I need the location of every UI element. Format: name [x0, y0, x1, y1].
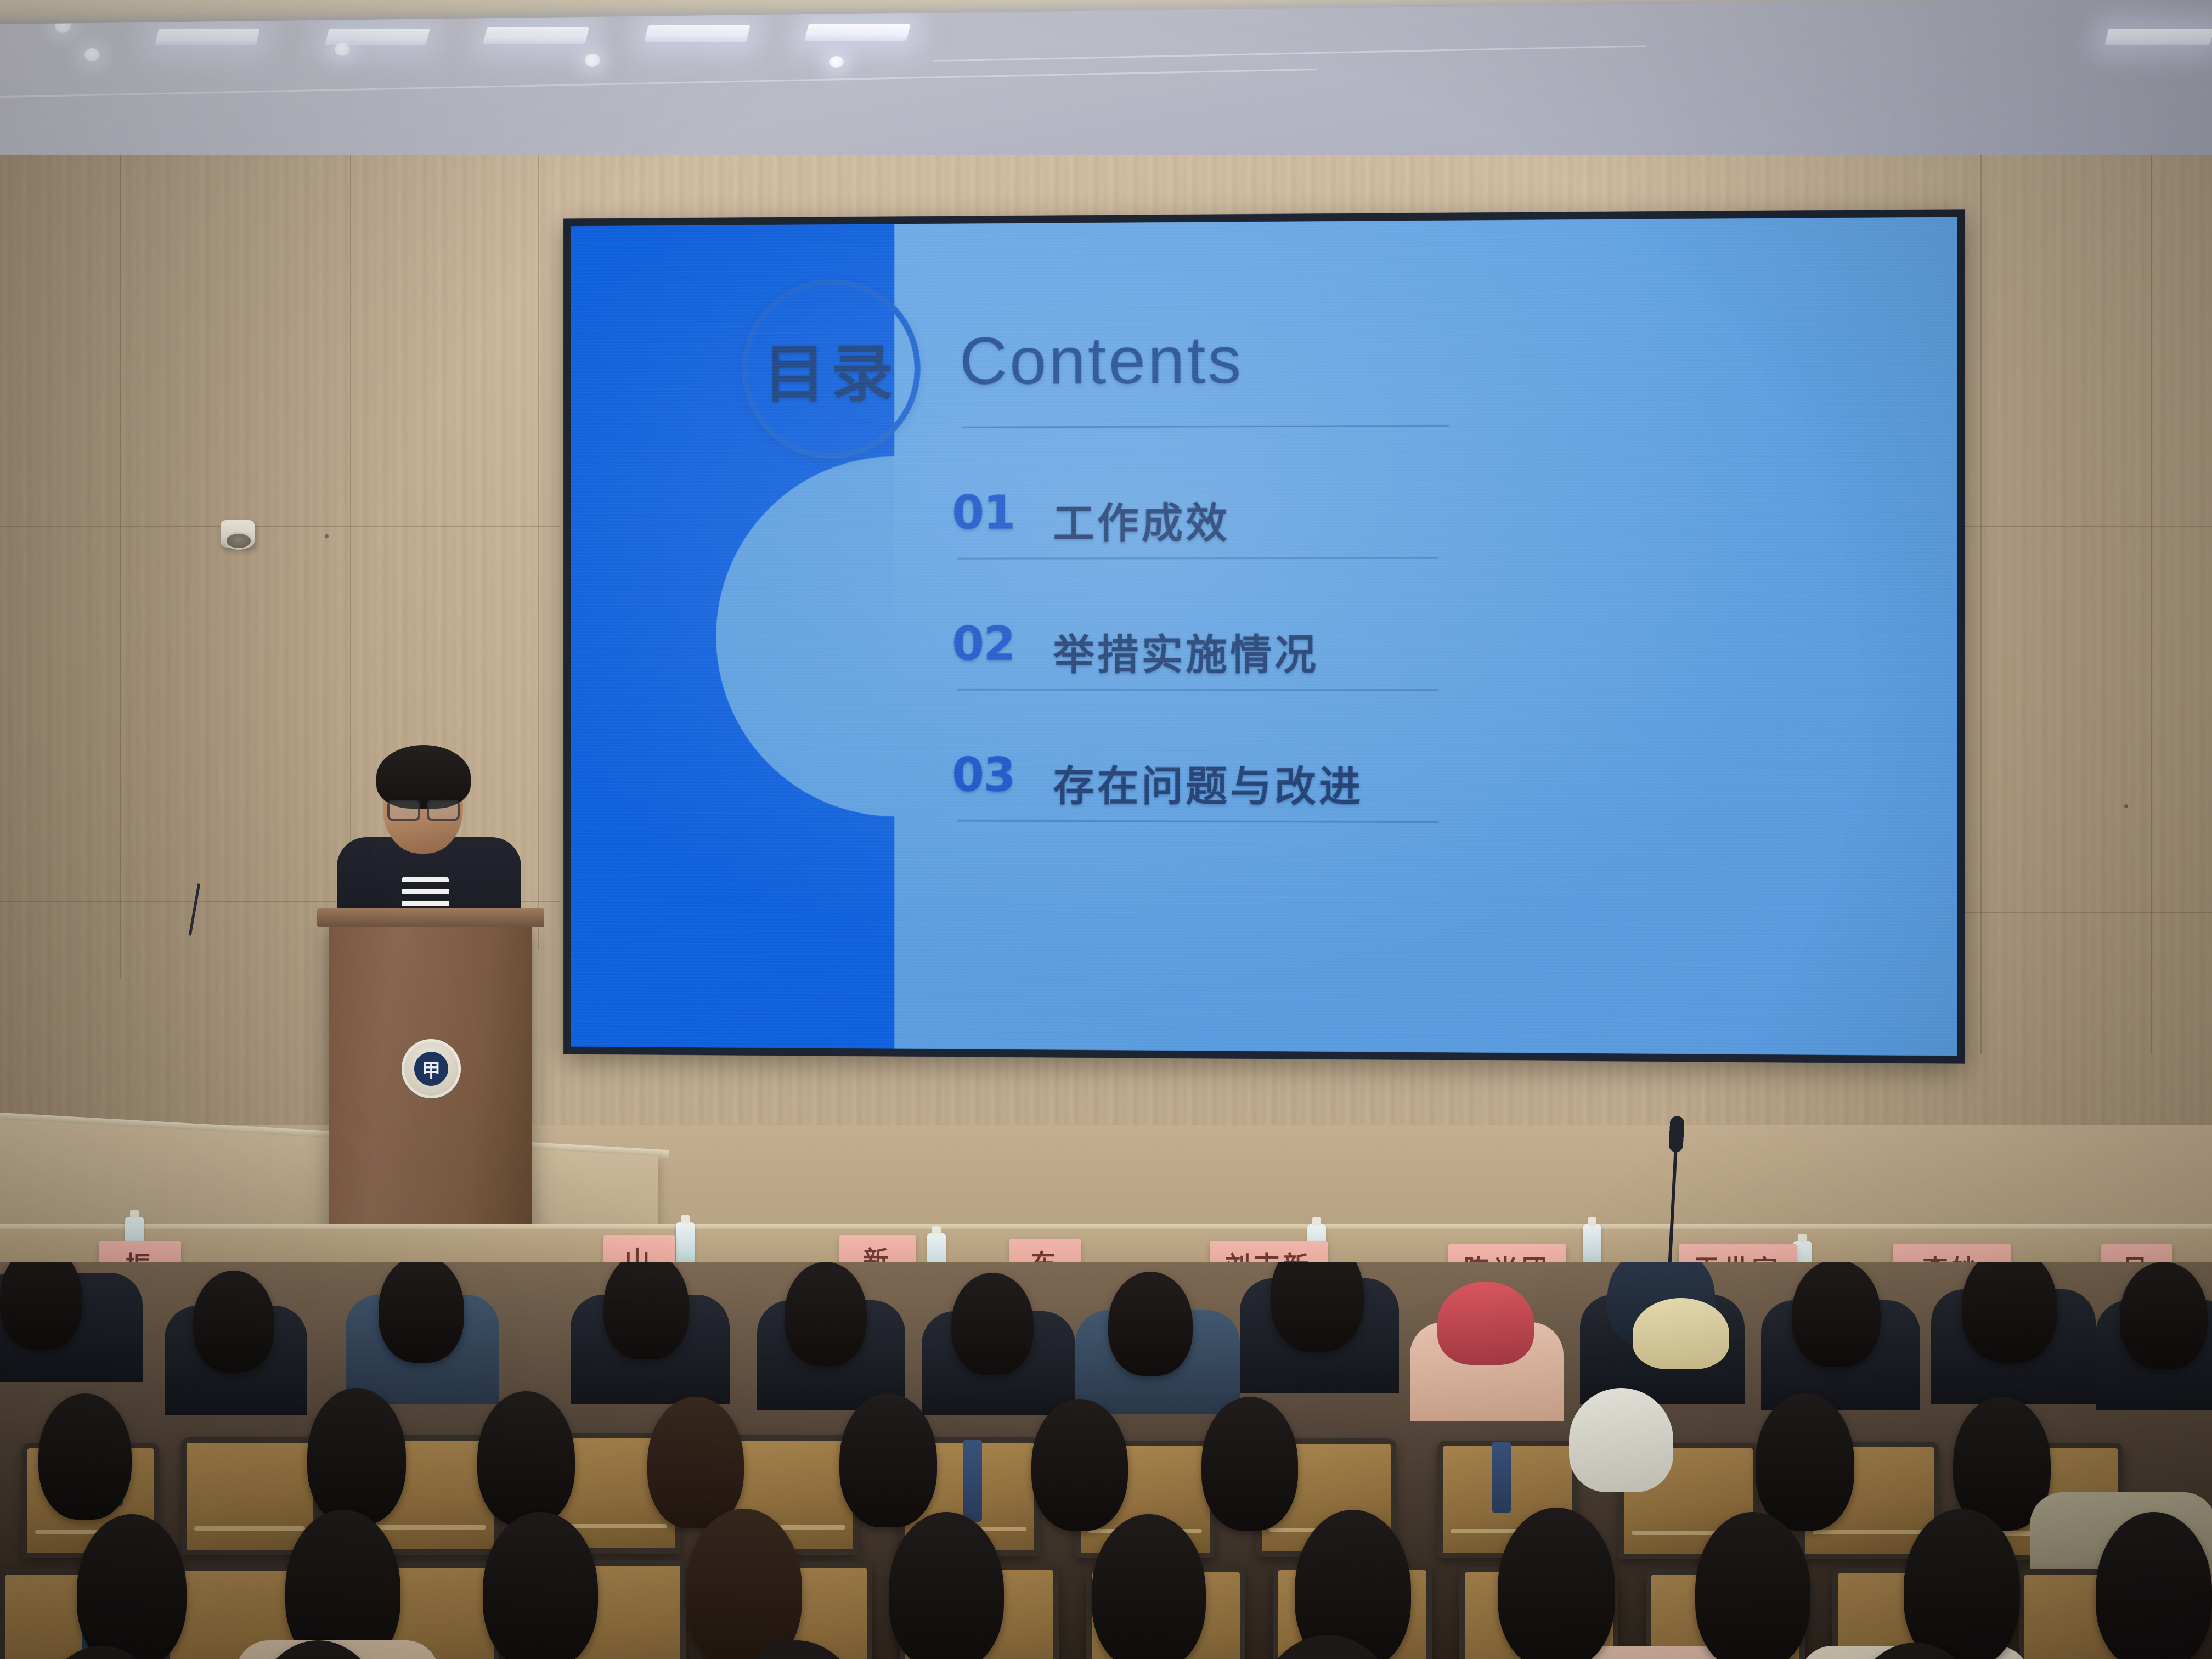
ceiling-downlight [335, 43, 350, 56]
audience-head [285, 1510, 400, 1659]
ceiling-downlight [84, 48, 100, 61]
ceiling-downlight [585, 54, 600, 67]
emblem-character: 甲 [414, 1052, 448, 1086]
cap-hat [1633, 1298, 1729, 1369]
audience-head [785, 1262, 867, 1366]
toc-item-label: 举措实施情况 [1053, 621, 1319, 681]
audience-head [77, 1514, 187, 1659]
audience-head [1756, 1393, 1854, 1531]
audience-head [1498, 1508, 1615, 1659]
bag-strap [963, 1440, 982, 1522]
audience-head [379, 1262, 464, 1363]
audience-head [1271, 1262, 1364, 1352]
audience-head [483, 1512, 598, 1659]
audience-head [38, 1393, 132, 1520]
ceiling-panel-light [804, 24, 910, 41]
audience-head [0, 1262, 82, 1350]
ceiling [0, 0, 2212, 165]
audience-head [647, 1397, 744, 1528]
toc-item-number: 02 [952, 617, 1015, 672]
ceiling-downlight [55, 19, 71, 33]
glasses-icon [387, 800, 460, 816]
toc-item-01[interactable]: 01 工作成效 [952, 479, 1448, 567]
toc-item-03[interactable]: 03 存在问题与改进 [952, 742, 1448, 831]
audience-head [1108, 1272, 1193, 1376]
audience-head [1695, 1512, 1810, 1659]
audience-head [2096, 1512, 2212, 1659]
audience-head [1092, 1514, 1206, 1659]
toc-item-number: 01 [952, 486, 1015, 540]
wall-speaker-icon [221, 520, 255, 548]
toc-item-rule [957, 820, 1439, 823]
audience-head [2120, 1262, 2208, 1369]
audience-head [307, 1388, 406, 1525]
toc-item-rule [957, 557, 1439, 560]
audience-head [1031, 1399, 1128, 1531]
ceiling-panel-light [155, 29, 259, 45]
ceiling-panel-light [2104, 29, 2212, 45]
audience-head [839, 1393, 937, 1527]
audience-head [477, 1391, 575, 1526]
podium-top [317, 909, 544, 927]
auditorium-seat[interactable] [181, 1437, 318, 1555]
toc-item-rule [957, 689, 1439, 691]
beanie-hat [1569, 1388, 1673, 1492]
beanie-hat [1437, 1282, 1534, 1365]
podium: 甲 [329, 922, 532, 1256]
audience-head [951, 1273, 1034, 1375]
audience-head [1792, 1262, 1881, 1367]
audience-head [1962, 1262, 2057, 1363]
contents-badge-label: 目录 [764, 323, 899, 414]
contents-badge-circle: 目录 [742, 279, 920, 459]
toc-item-label: 工作成效 [1053, 489, 1230, 550]
audience-head [603, 1262, 689, 1359]
lecture-hall-photo: 目录 Contents 01 工作成效 02 举措实施情况 03 存在问题与改进 [0, 0, 2212, 1659]
toc-item-label: 存在问题与改进 [1053, 752, 1363, 813]
toc-item-02[interactable]: 02 举措实施情况 [952, 611, 1448, 699]
audience-head [889, 1512, 1004, 1659]
ceiling-downlight [830, 56, 844, 68]
ceiling-panel-light [483, 27, 589, 44]
projection-screen: 目录 Contents 01 工作成效 02 举措实施情况 03 存在问题与改进 [563, 209, 1965, 1063]
contents-title: Contents [960, 321, 1243, 399]
bag-strap [1492, 1442, 1511, 1513]
audience-head [1201, 1397, 1298, 1531]
audience-area [0, 1262, 2212, 1659]
university-emblem-icon: 甲 [402, 1039, 461, 1098]
slide-canvas: 目录 Contents 01 工作成效 02 举措实施情况 03 存在问题与改进 [571, 217, 1957, 1056]
audience-head [1904, 1509, 2020, 1659]
audience-head [193, 1271, 274, 1373]
toc-item-number: 03 [952, 748, 1015, 803]
presenter-hair [376, 745, 471, 809]
audience-head [686, 1509, 802, 1659]
ceiling-panel-light [644, 25, 750, 42]
